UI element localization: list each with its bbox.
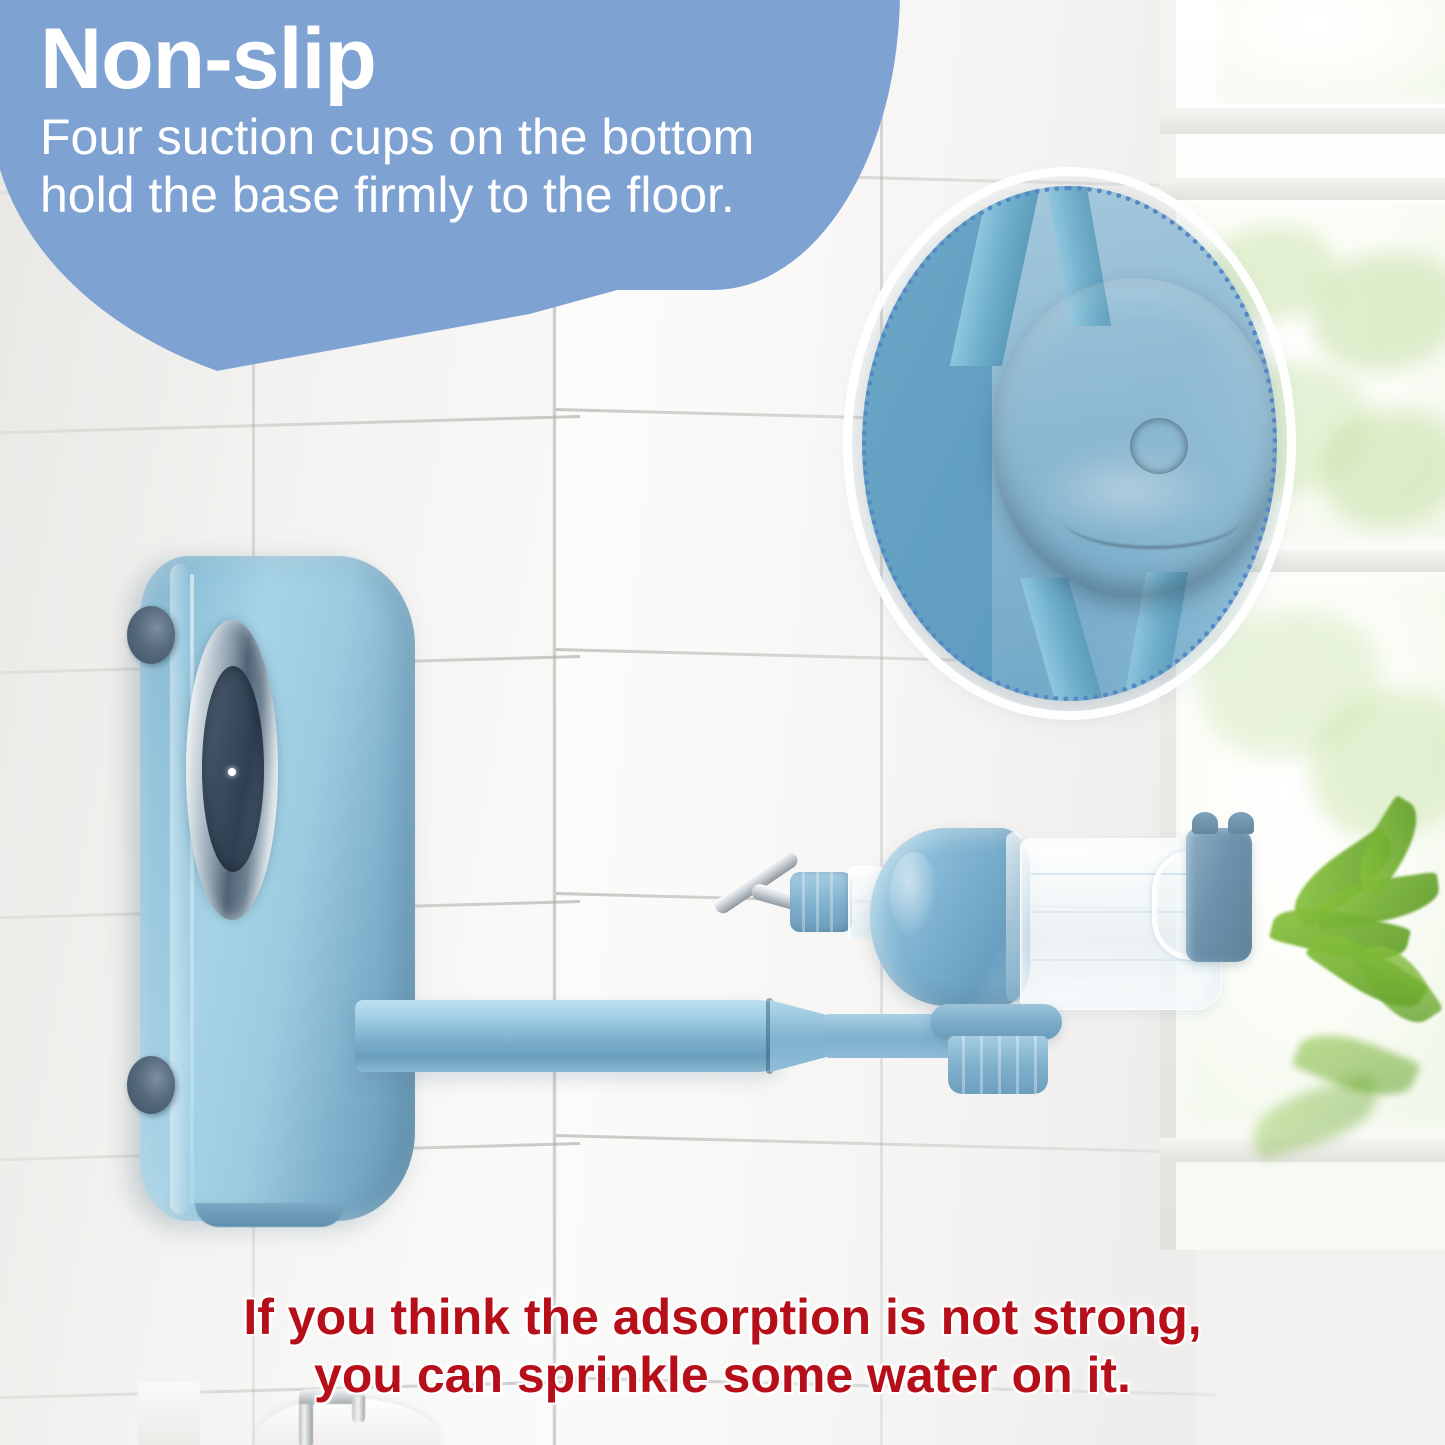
dome-cap-highlight	[890, 852, 938, 938]
foliage-blur	[1310, 252, 1445, 372]
product-marketing-image: Non-slip Four suction cups on the bottom…	[0, 0, 1445, 1445]
wall-base-unit	[140, 556, 415, 1221]
caption-line-2: you can sprinkle some water on it.	[0, 1346, 1445, 1404]
bottom-caption: If you think the adsorption is not stron…	[0, 1288, 1445, 1404]
base-collar	[930, 1004, 1062, 1040]
closeup-cup-center	[1130, 418, 1188, 474]
base-bottom-lip	[195, 1203, 345, 1227]
suction-cup-top	[127, 606, 175, 664]
suction-cup-bottom	[127, 1056, 175, 1114]
window-pane	[1216, 0, 1445, 104]
suction-cup-closeup-inset	[862, 186, 1277, 701]
headline: Non-slip	[40, 16, 820, 102]
caption-line-1: If you think the adsorption is not stron…	[0, 1288, 1445, 1346]
closeup-cup-crease	[1062, 486, 1242, 549]
faucet-column	[299, 1398, 313, 1445]
bottle-end-cap	[1186, 828, 1252, 962]
chrome-reflector-ring	[186, 620, 278, 920]
support-arm	[355, 1000, 785, 1072]
bottle-cap-tab	[1192, 812, 1218, 834]
bottle-cap-tab	[1228, 812, 1254, 834]
callout-text-group: Non-slip Four suction cups on the bottom…	[40, 16, 820, 224]
base-edge-highlight	[170, 564, 190, 1214]
foliage-blur	[1320, 410, 1445, 528]
spout-collar	[790, 872, 852, 932]
reflector-highlight-dot	[228, 768, 236, 776]
grout-line-vertical	[880, 0, 883, 1445]
window-frame	[1160, 108, 1445, 134]
base-nut	[948, 1036, 1048, 1094]
callout-body-text: Four suction cups on the bottom hold the…	[40, 108, 780, 224]
base-seam	[190, 574, 194, 1204]
